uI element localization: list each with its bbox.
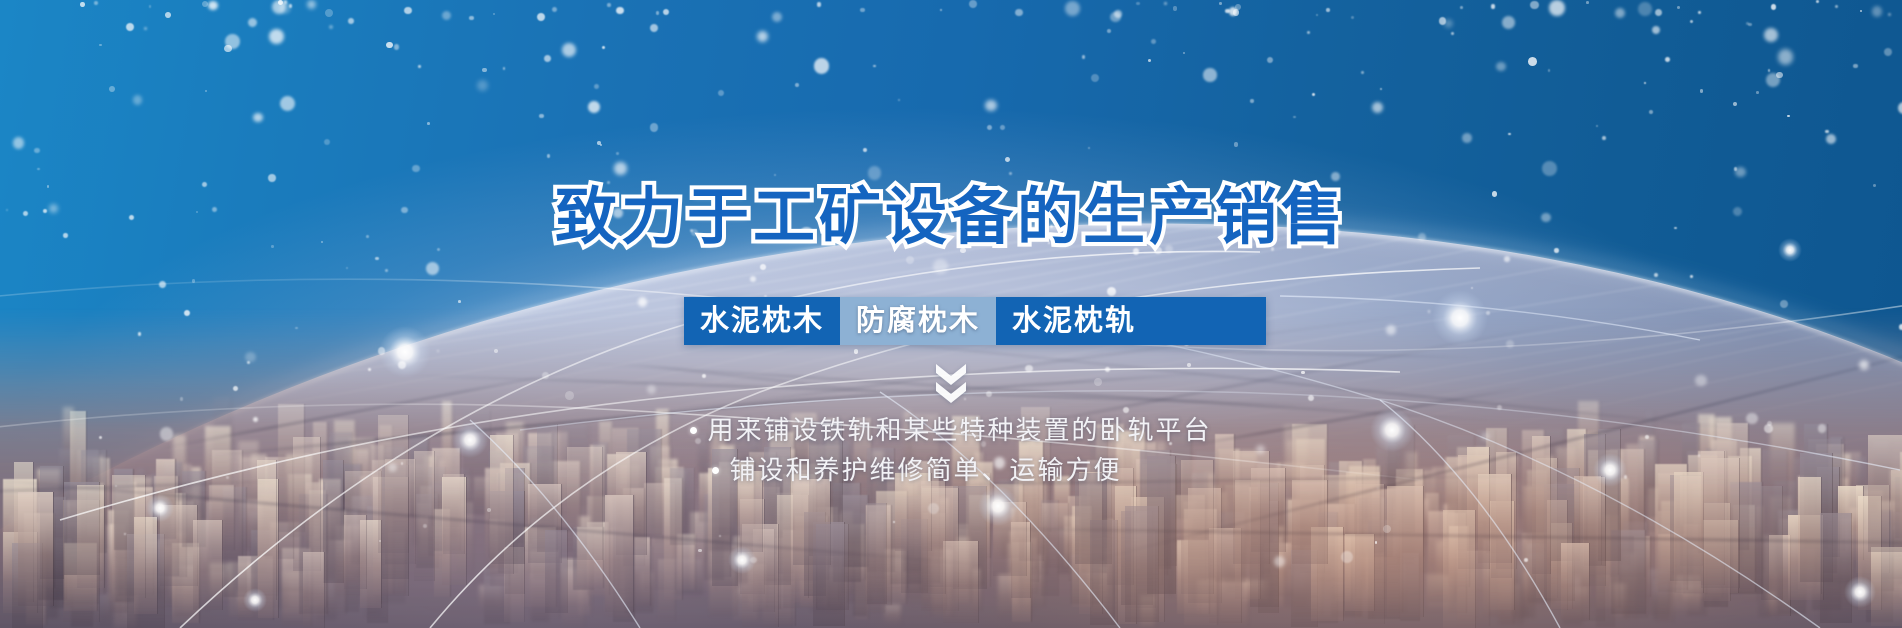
product-tag-bar: 水泥枕木防腐枕木水泥枕轨 (684, 297, 1266, 345)
feature-bullet-text: 铺设和养护维修简单、运输方便 (729, 450, 1121, 490)
feature-bullet-list: 用来铺设铁轨和某些特种装置的卧轨平台铺设和养护维修简单、运输方便 (0, 410, 1902, 490)
banner-headline: 致力于工矿设备的生产销售 (0, 182, 1902, 254)
chevron-double-down-icon (934, 362, 968, 404)
feature-bullet-text: 用来铺设铁轨和某些特种装置的卧轨平台 (707, 410, 1211, 450)
scroll-down-indicator[interactable] (0, 362, 1902, 404)
product-tag-1[interactable]: 水泥枕木 (684, 297, 840, 345)
feature-bullet-1: 用来铺设铁轨和某些特种装置的卧轨平台 (0, 410, 1902, 450)
bullet-dot-icon (690, 427, 697, 434)
feature-bullet-2: 铺设和养护维修简单、运输方便 (0, 450, 1902, 490)
banner-content: 致力于工矿设备的生产销售 水泥枕木防腐枕木水泥枕轨 用来铺设铁轨和某些特种装置的… (0, 0, 1902, 628)
hero-banner: 致力于工矿设备的生产销售 水泥枕木防腐枕木水泥枕轨 用来铺设铁轨和某些特种装置的… (0, 0, 1902, 628)
product-tag-3[interactable]: 水泥枕轨 (996, 297, 1152, 345)
product-tag-2[interactable]: 防腐枕木 (840, 297, 996, 345)
bullet-dot-icon (712, 467, 719, 474)
